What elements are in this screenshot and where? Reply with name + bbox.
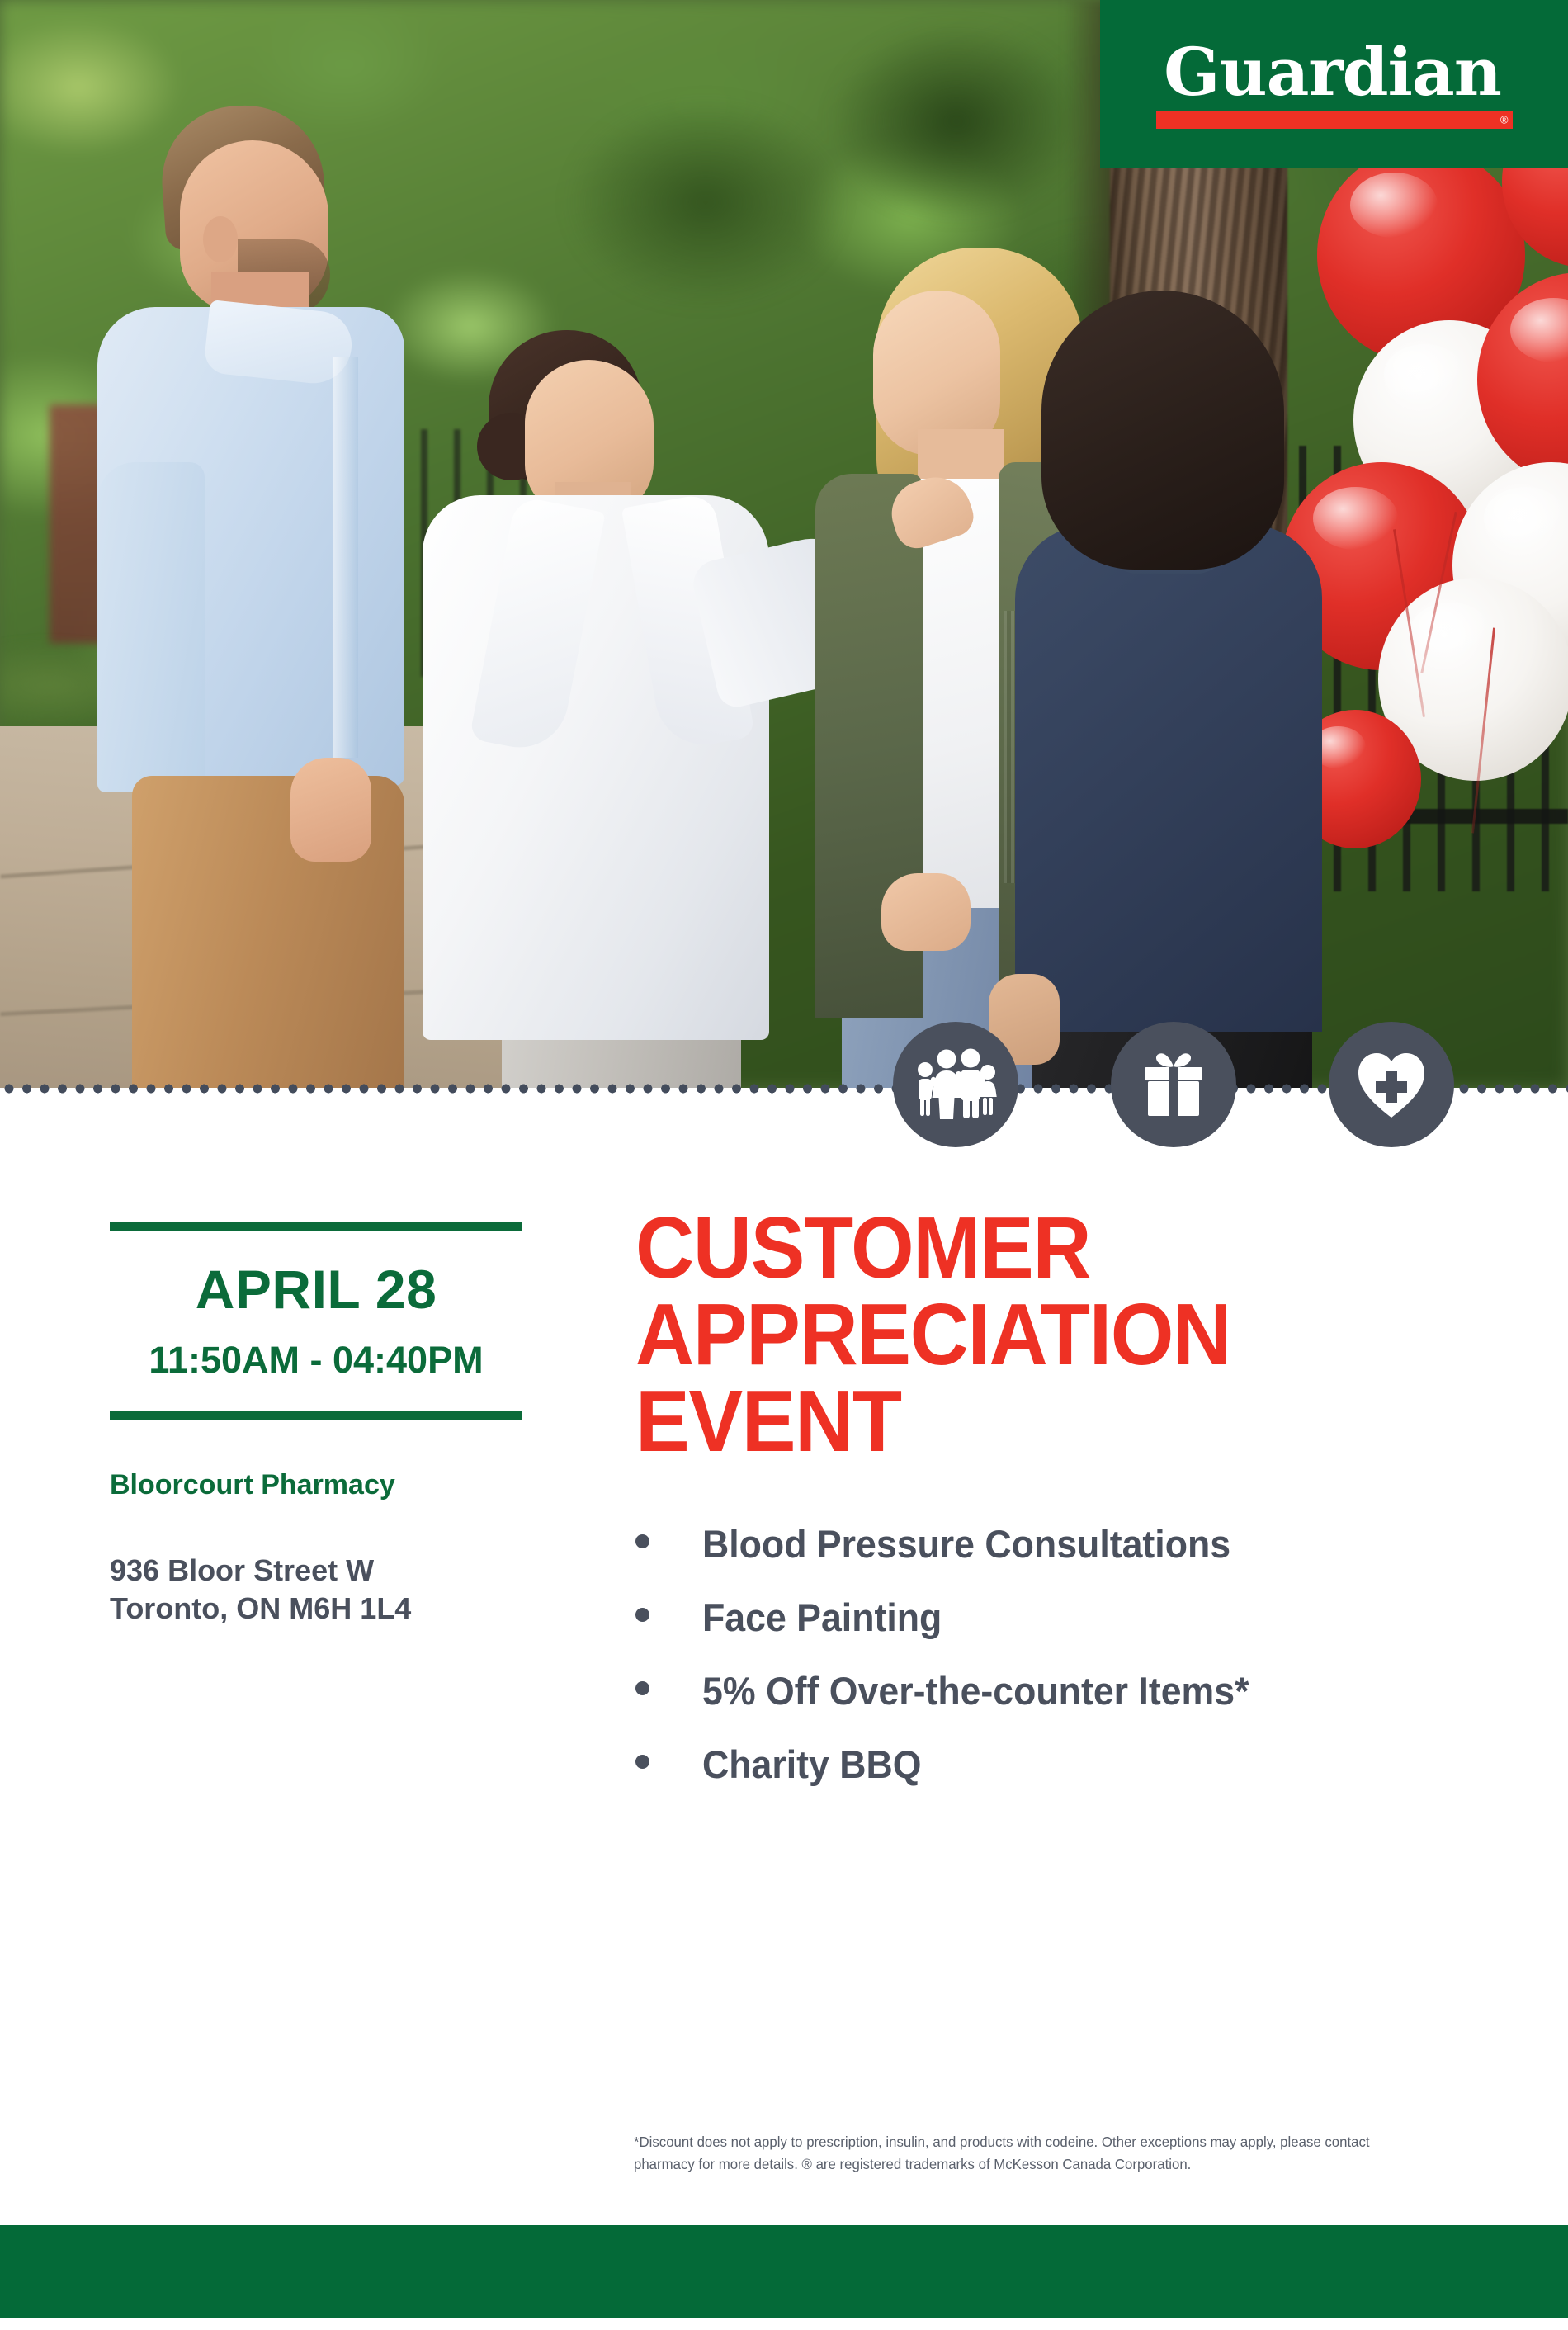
event-time: 11:50AM - 04:40PM	[110, 1341, 522, 1378]
disclaimer-text: *Discount does not apply to prescription…	[634, 2131, 1426, 2176]
bullet-icon	[635, 1681, 649, 1695]
list-item: Face Painting	[635, 1598, 1502, 1637]
dark-woman-hair	[1041, 291, 1284, 570]
offer-label: Face Painting	[702, 1598, 942, 1637]
event-headline-column: CUSTOMER APPRECIATION EVENT Blood Pressu…	[635, 1205, 1502, 1818]
store-address: 936 Bloor Street W Toronto, ON M6H 1L4	[110, 1552, 522, 1628]
registered-trademark-icon: ®	[1500, 115, 1509, 125]
guardian-red-bar: ®	[1156, 111, 1513, 129]
page-title: CUSTOMER APPRECIATION EVENT	[635, 1205, 1442, 1465]
bullet-icon	[635, 1755, 649, 1769]
poster-content: APRIL 28 11:50AM - 04:40PM Bloorcourt Ph…	[0, 1098, 1568, 2225]
family-icon	[913, 1047, 999, 1122]
list-item: 5% Off Over-the-counter Items*	[635, 1671, 1502, 1710]
bullet-icon	[635, 1534, 649, 1548]
footer-bar	[0, 2225, 1568, 2318]
man-ear	[203, 216, 238, 262]
man-arm	[97, 462, 205, 792]
event-poster: Guardian ®	[0, 0, 1568, 2330]
heart-plus-icon	[1355, 1050, 1428, 1119]
family-icon-badge	[893, 1022, 1018, 1147]
gift-icon	[1138, 1047, 1209, 1122]
icon-badge-row	[0, 1022, 1568, 1154]
offer-label: 5% Off Over-the-counter Items*	[702, 1671, 1249, 1710]
offer-label: Blood Pressure Consultations	[702, 1524, 1230, 1563]
offer-label: Charity BBQ	[702, 1745, 921, 1784]
bullet-icon	[635, 1608, 649, 1622]
event-date: APRIL 28	[110, 1262, 522, 1316]
gift-icon-badge	[1111, 1022, 1236, 1147]
list-item: Charity BBQ	[635, 1745, 1502, 1784]
footer-white-strip	[0, 2318, 1568, 2330]
man-hand	[290, 758, 371, 862]
event-details-column: APRIL 28 11:50AM - 04:40PM Bloorcourt Ph…	[110, 1222, 522, 1628]
dark-woman-navy-shirt	[1015, 525, 1322, 1032]
man-shirt-placket	[333, 357, 358, 758]
heart-plus-icon-badge	[1329, 1022, 1454, 1147]
guardian-logo: Guardian ®	[1100, 0, 1568, 168]
rule-top	[110, 1222, 522, 1231]
store-name: Bloorcourt Pharmacy	[110, 1468, 522, 1502]
list-item: Blood Pressure Consultations	[635, 1524, 1502, 1563]
rule-bottom	[110, 1411, 522, 1420]
guardian-wordmark: Guardian	[1164, 39, 1501, 105]
offer-list: Blood Pressure Consultations Face Painti…	[635, 1524, 1502, 1784]
blonde-hand	[881, 873, 971, 951]
